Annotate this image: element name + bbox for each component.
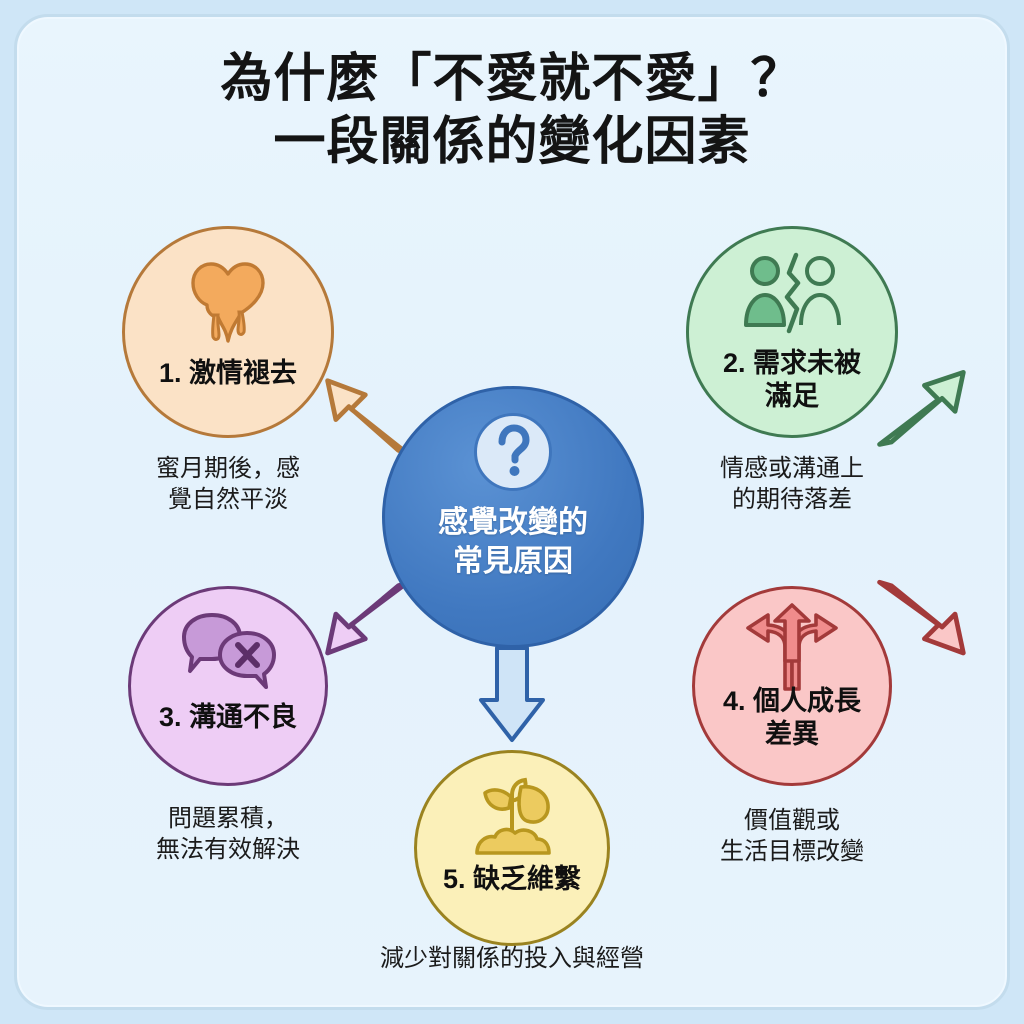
page-title: 為什麼「不愛就不愛」？ 一段關係的變化因素 — [0, 48, 1024, 175]
node-2-caption-line-1: 情感或溝通上 — [686, 454, 898, 485]
node-5[interactable]: 5. 缺乏維繫 — [414, 750, 610, 946]
node-1-label: 1. 激情褪去 — [125, 357, 331, 390]
node-3-bubble[interactable]: 3. 溝通不良 — [128, 586, 328, 786]
node-4-label-line-2: 差異 — [709, 718, 875, 751]
node-1-bubble[interactable]: 1. 激情褪去 — [122, 226, 334, 438]
node-1-caption-line-2: 覺自然平淡 — [122, 485, 334, 516]
melting-heart-icon — [185, 255, 271, 347]
node-1-caption: 蜜月期後，感 覺自然平淡 — [122, 454, 334, 515]
node-4-label: 4. 個人成長 差異 — [695, 685, 889, 751]
node-2-bubble[interactable]: 2. 需求未被 滿足 — [686, 226, 898, 438]
node-5-caption: 減少對關係的投入與經營 — [0, 938, 1024, 973]
node-4[interactable]: 4. 個人成長 差異 價值觀或 生活目標改變 — [692, 586, 892, 786]
node-3-caption-line-2: 無法有效解決 — [128, 835, 328, 866]
node-4-caption-line-2: 生活目標改變 — [692, 837, 892, 868]
node-2-label-line-1: 2. 需求未被 — [703, 347, 881, 380]
center-label: 感覺改變的 常見原因 — [438, 503, 588, 581]
node-4-caption: 價值觀或 生活目標改變 — [692, 806, 892, 867]
node-2-caption: 情感或溝通上 的期待落差 — [686, 454, 898, 515]
node-3-caption: 問題累積， 無法有效解決 — [128, 804, 328, 865]
node-5-label: 5. 缺乏維繫 — [417, 863, 607, 896]
node-4-label-line-1: 4. 個人成長 — [709, 685, 875, 718]
question-mark-icon — [474, 413, 552, 491]
center-label-line-2: 常見原因 — [438, 542, 588, 581]
node-2[interactable]: 2. 需求未被 滿足 情感或溝通上 的期待落差 — [686, 226, 898, 438]
node-4-caption-line-1: 價值觀或 — [692, 806, 892, 837]
node-2-label-line-2: 滿足 — [703, 380, 881, 413]
center-label-line-1: 感覺改變的 — [438, 503, 588, 542]
node-4-bubble[interactable]: 4. 個人成長 差異 — [692, 586, 892, 786]
node-3-caption-line-1: 問題累積， — [128, 804, 328, 835]
wilting-plant-icon — [465, 775, 559, 857]
node-1[interactable]: 1. 激情褪去 蜜月期後，感 覺自然平淡 — [122, 226, 334, 438]
speech-bubbles-x-icon — [176, 611, 280, 689]
node-1-caption-line-1: 蜜月期後，感 — [122, 454, 334, 485]
node-5-bubble[interactable]: 5. 缺乏維繫 — [414, 750, 610, 946]
center-node[interactable]: 感覺改變的 常見原因 — [382, 386, 644, 648]
node-3-label: 3. 溝通不良 — [131, 701, 325, 734]
node-3[interactable]: 3. 溝通不良 問題累積， 無法有效解決 — [128, 586, 328, 786]
infographic-canvas: 為什麼「不愛就不愛」？ 一段關係的變化因素 — [0, 0, 1024, 1024]
node-2-label: 2. 需求未被 滿足 — [689, 347, 895, 413]
broken-couple-icon — [741, 253, 843, 333]
diverging-arrows-icon — [744, 605, 840, 689]
title-line-1: 為什麼「不愛就不愛」？ — [0, 48, 1024, 111]
node-2-caption-line-2: 的期待落差 — [686, 485, 898, 516]
title-line-2: 一段關係的變化因素 — [0, 111, 1024, 174]
